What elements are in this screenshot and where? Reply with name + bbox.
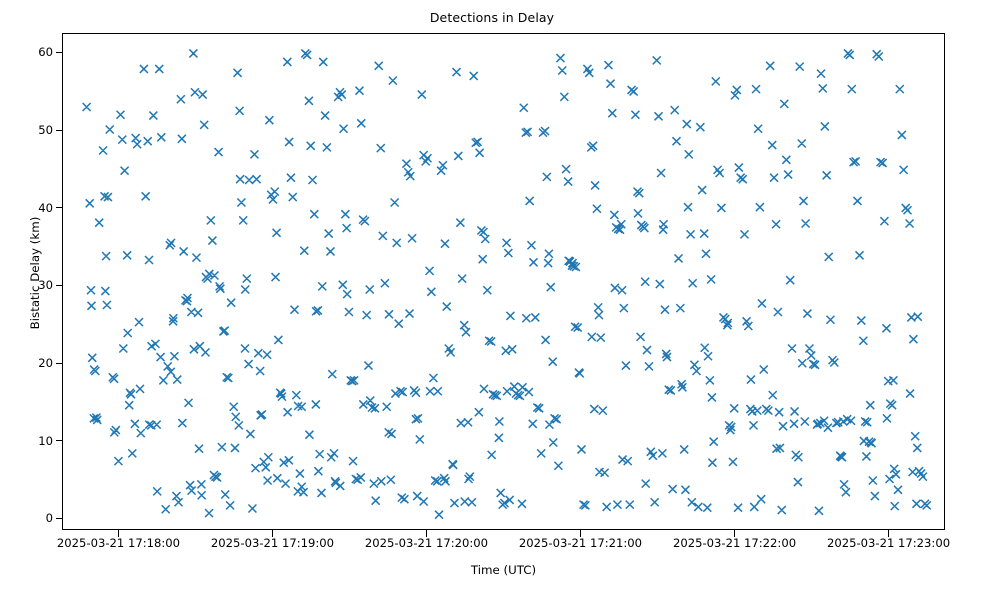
plot-area bbox=[62, 33, 945, 530]
x-tick-label: 2025-03-21 17:23:00 bbox=[827, 536, 950, 550]
y-tick-mark bbox=[56, 285, 63, 286]
y-tick-label: 60 bbox=[7, 45, 53, 59]
x-axis-label: Time (UTC) bbox=[62, 563, 945, 577]
y-tick-label: 10 bbox=[7, 434, 53, 448]
x-tick-mark bbox=[580, 530, 581, 537]
y-tick-label: 0 bbox=[7, 511, 53, 525]
y-tick-mark bbox=[56, 440, 63, 441]
y-tick-mark bbox=[56, 363, 63, 364]
y-tick-mark bbox=[56, 130, 63, 131]
x-tick-mark bbox=[426, 530, 427, 537]
x-tick-label: 2025-03-21 17:18:00 bbox=[57, 536, 180, 550]
y-tick-mark bbox=[56, 52, 63, 53]
x-tick-label: 2025-03-21 17:20:00 bbox=[365, 536, 488, 550]
scatter-marker-set bbox=[83, 49, 931, 518]
x-tick-label: 2025-03-21 17:21:00 bbox=[519, 536, 642, 550]
x-tick-mark bbox=[734, 530, 735, 537]
x-tick-label: 2025-03-21 17:22:00 bbox=[673, 536, 796, 550]
x-tick-mark bbox=[888, 530, 889, 537]
scatter-points-layer bbox=[63, 34, 945, 530]
y-tick-mark bbox=[56, 207, 63, 208]
y-axis-ticks: 0102030405060 bbox=[0, 0, 53, 590]
y-axis-label: Bistatic Delay (km) bbox=[28, 123, 42, 423]
chart-title: Detections in Delay bbox=[0, 10, 984, 25]
x-tick-mark bbox=[272, 530, 273, 537]
figure-canvas: Detections in Delay 0102030405060 2025-0… bbox=[0, 0, 984, 590]
x-tick-label: 2025-03-21 17:19:00 bbox=[211, 536, 334, 550]
x-tick-mark bbox=[118, 530, 119, 537]
y-tick-mark bbox=[56, 518, 63, 519]
